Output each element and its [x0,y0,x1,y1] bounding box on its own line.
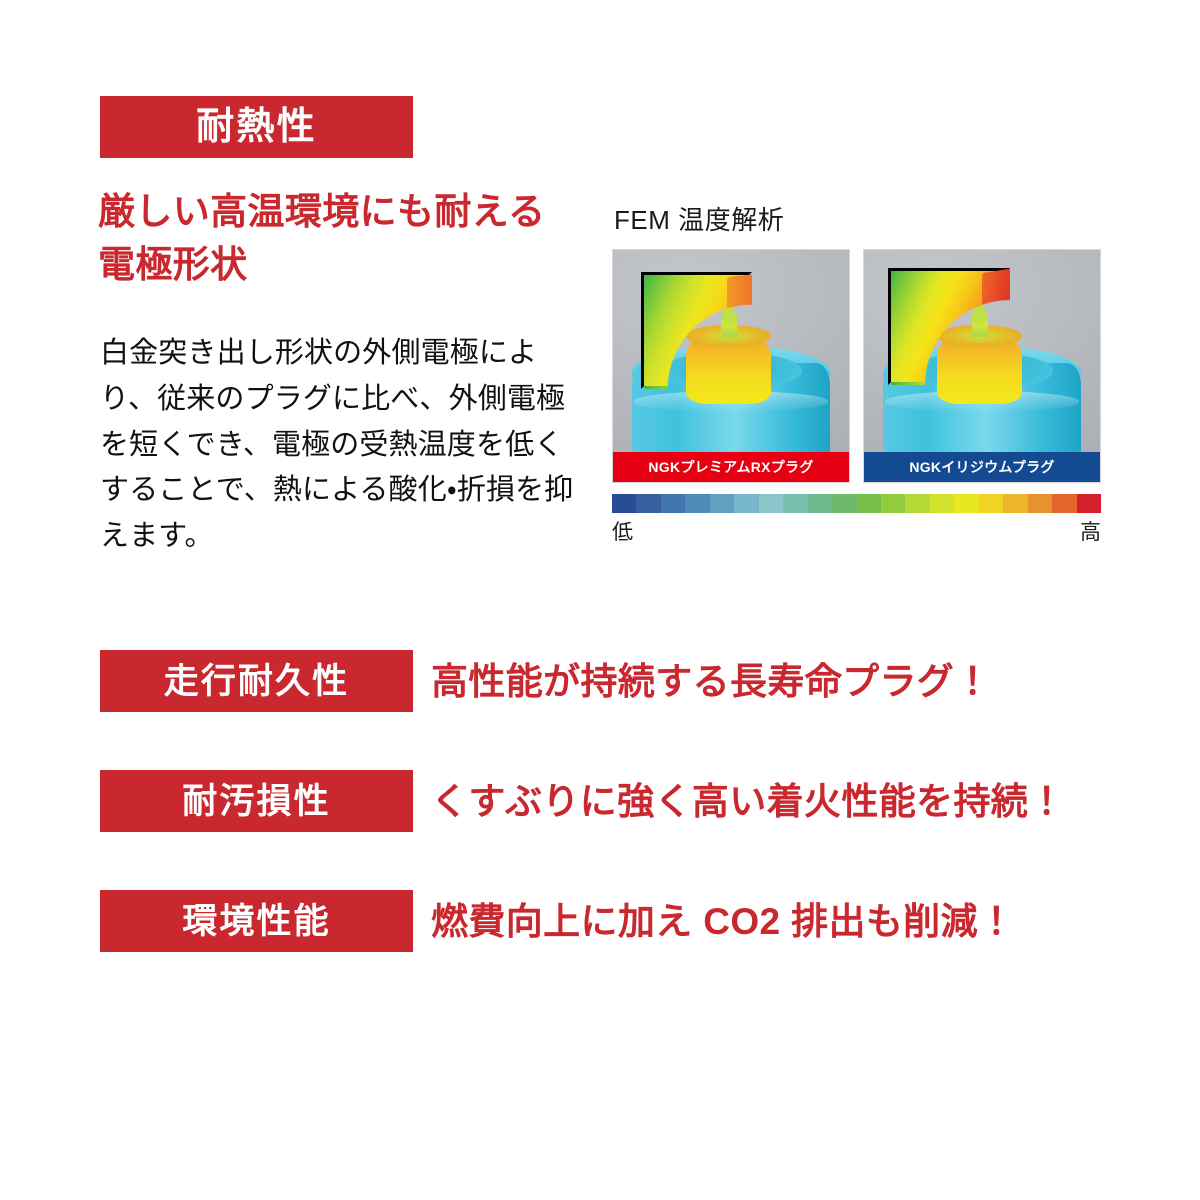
scale-band-9 [832,494,856,513]
fem-analysis-block: FEM 温度解析 NGKプレミアム [612,200,1102,546]
scale-label-low: 低 [612,516,633,546]
scale-band-7 [783,494,807,513]
fem-image-premium-rx [613,250,849,452]
promo-page: 耐熱性 厳しい高温環境にも耐える 電極形状 白金突き出し形状の外側電極により、従… [0,0,1200,1200]
fem-panel-premium-rx: NGKプレミアムRXプラグ [612,249,850,483]
badge-driving-durability: 走行耐久性 [100,650,413,712]
scale-band-1 [636,494,660,513]
feature-text-fouling-resistance: くすぶりに強く高い着火性能を持続！ [431,783,1066,820]
ground-electrode-arm-icon [982,265,1033,313]
scale-band-2 [661,494,685,513]
ground-electrode-arm-icon [727,273,767,314]
fem-image-iridium [864,250,1100,452]
temperature-scale-labels: 低 高 [612,516,1101,546]
badge-fouling-resistance: 耐汚損性 [100,770,413,832]
scale-band-8 [808,494,832,513]
scale-band-5 [734,494,758,513]
scale-band-10 [857,494,881,513]
scale-band-6 [759,494,783,513]
badge-environmental-performance: 環境性能 [100,890,413,952]
scale-band-16 [1003,494,1027,513]
fem-panels: NGKプレミアムRXプラグ NGKイリジウムプラグ [612,249,1102,483]
scale-band-13 [930,494,954,513]
fem-caption-premium-rx: NGKプレミアムRXプラグ [613,452,849,482]
heat-heading-line-2: 電極形状 [98,239,568,292]
scale-band-17 [1028,494,1052,513]
ground-electrode-tip-icon [767,300,781,318]
scale-band-12 [905,494,929,513]
feature-text-environmental-performance: 燃費向上に加え CO2 排出も削減！ [431,903,1015,940]
scale-label-high: 高 [1080,516,1101,546]
scale-band-4 [710,494,734,513]
scale-band-15 [979,494,1003,513]
fem-caption-iridium: NGKイリジウムプラグ [864,452,1100,482]
scale-band-0 [612,494,636,513]
ground-electrode-icon [641,272,752,389]
scale-band-19 [1077,494,1101,513]
scale-band-11 [881,494,905,513]
scale-band-18 [1052,494,1076,513]
scale-band-3 [685,494,709,513]
heat-heading: 厳しい高温環境にも耐える 電極形状 [98,186,568,291]
fem-title: FEM 温度解析 [612,200,1102,237]
fem-panel-iridium: NGKイリジウムプラグ [863,249,1101,483]
feature-text-driving-durability: 高性能が持続する長寿命プラグ！ [431,663,992,700]
ground-electrode-icon [888,268,1011,385]
temperature-scale-bar [612,494,1101,513]
heat-heading-line-1: 厳しい高温環境にも耐える [98,186,568,239]
heat-body-text: 白金突き出し形状の外側電極により、従来のプラグに比べ、外側電極を短くでき、電極の… [100,331,586,560]
badge-heat-resistance: 耐熱性 [100,96,413,158]
scale-band-14 [954,494,978,513]
